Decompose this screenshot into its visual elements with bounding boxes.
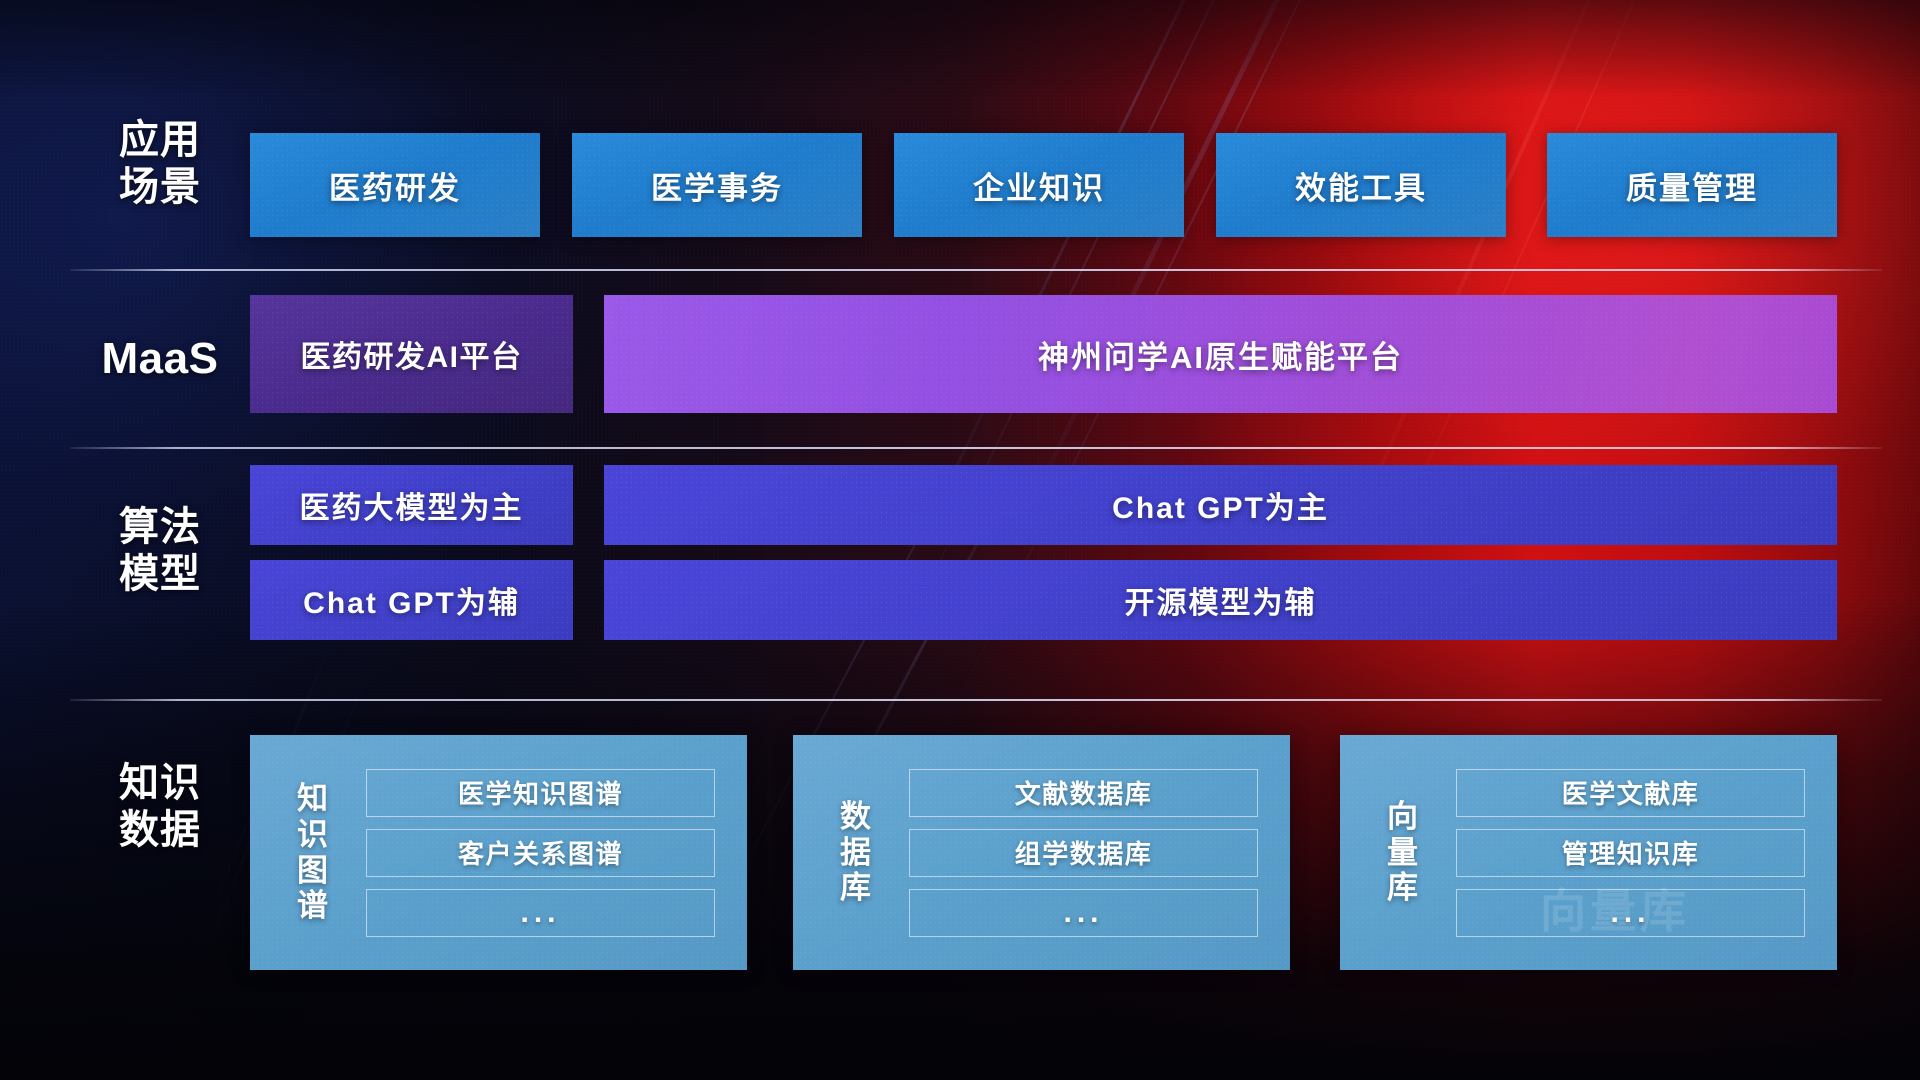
maas-box-shenzhou-wenxue-platform[interactable]: 神州问学AI原生赋能平台	[604, 295, 1837, 413]
divider-after-algorithm-row	[70, 699, 1882, 701]
row-label-algorithm-model: 算法 模型	[70, 504, 250, 598]
app-box-efficiency-tools[interactable]: 效能工具	[1216, 133, 1506, 237]
knowledge-item-more[interactable]: ...	[366, 889, 715, 937]
algo-box-label: Chat GPT为主	[1112, 483, 1329, 527]
knowledge-item[interactable]: 医学知识图谱	[366, 769, 715, 817]
knowledge-panel-title: 向量库	[1372, 799, 1434, 906]
algo-box-chatgpt-primary[interactable]: Chat GPT为主	[604, 465, 1837, 545]
app-box-medical-affairs[interactable]: 医学事务	[572, 133, 862, 237]
algo-box-label: Chat GPT为辅	[303, 578, 520, 622]
knowledge-item[interactable]: 管理知识库	[1456, 829, 1805, 877]
knowledge-item-more[interactable]: ...	[909, 889, 1258, 937]
knowledge-panel-title: 数据库	[825, 799, 887, 906]
row-label-maas: MaaS	[70, 333, 250, 385]
architecture-diagram: 应用 场景 医药研发 医学事务 企业知识 效能工具 质量管理 MaaS 医药研发…	[0, 0, 1920, 1080]
knowledge-item[interactable]: 医学文献库	[1456, 769, 1805, 817]
divider-after-maas-row	[70, 447, 1882, 449]
row-label-application-scenarios: 应用 场景	[70, 117, 250, 211]
algo-box-medical-llm-primary[interactable]: 医药大模型为主	[250, 465, 573, 545]
divider-after-application-row	[70, 269, 1882, 271]
maas-box-label: 医药研发AI平台	[301, 332, 523, 376]
knowledge-panel-items: 文献数据库 组学数据库 ...	[909, 769, 1258, 937]
knowledge-panel-items: 医学知识图谱 客户关系图谱 ...	[366, 769, 715, 937]
knowledge-item[interactable]: 文献数据库	[909, 769, 1258, 817]
maas-box-drug-rnd-ai-platform[interactable]: 医药研发AI平台	[250, 295, 573, 413]
knowledge-panel-vector-store[interactable]: 向量库 向量库 医学文献库 管理知识库 ...	[1340, 735, 1837, 970]
knowledge-item-more[interactable]: ...	[1456, 889, 1805, 937]
app-box-label: 企业知识	[973, 163, 1105, 208]
maas-box-label: 神州问学AI原生赋能平台	[1038, 332, 1403, 377]
knowledge-item[interactable]: 客户关系图谱	[366, 829, 715, 877]
knowledge-panel-knowledge-graph[interactable]: 知识图谱 医学知识图谱 客户关系图谱 ...	[250, 735, 747, 970]
app-box-drug-rnd[interactable]: 医药研发	[250, 133, 540, 237]
algo-box-chatgpt-secondary[interactable]: Chat GPT为辅	[250, 560, 573, 640]
app-box-label: 质量管理	[1626, 163, 1758, 208]
app-box-label: 效能工具	[1295, 163, 1427, 208]
app-box-enterprise-knowledge[interactable]: 企业知识	[894, 133, 1184, 237]
row-label-knowledge-data: 知识 数据	[70, 760, 250, 854]
algo-box-opensource-secondary[interactable]: 开源模型为辅	[604, 560, 1837, 640]
knowledge-panel-database[interactable]: 数据库 文献数据库 组学数据库 ...	[793, 735, 1290, 970]
app-box-label: 医药研发	[329, 163, 461, 208]
knowledge-panel-items: 医学文献库 管理知识库 ...	[1456, 769, 1805, 937]
knowledge-panel-title: 知识图谱	[282, 781, 344, 924]
knowledge-item[interactable]: 组学数据库	[909, 829, 1258, 877]
algo-box-label: 开源模型为辅	[1125, 578, 1317, 622]
app-box-quality-management[interactable]: 质量管理	[1547, 133, 1837, 237]
app-box-label: 医学事务	[651, 163, 783, 208]
algo-box-label: 医药大模型为主	[300, 483, 524, 527]
